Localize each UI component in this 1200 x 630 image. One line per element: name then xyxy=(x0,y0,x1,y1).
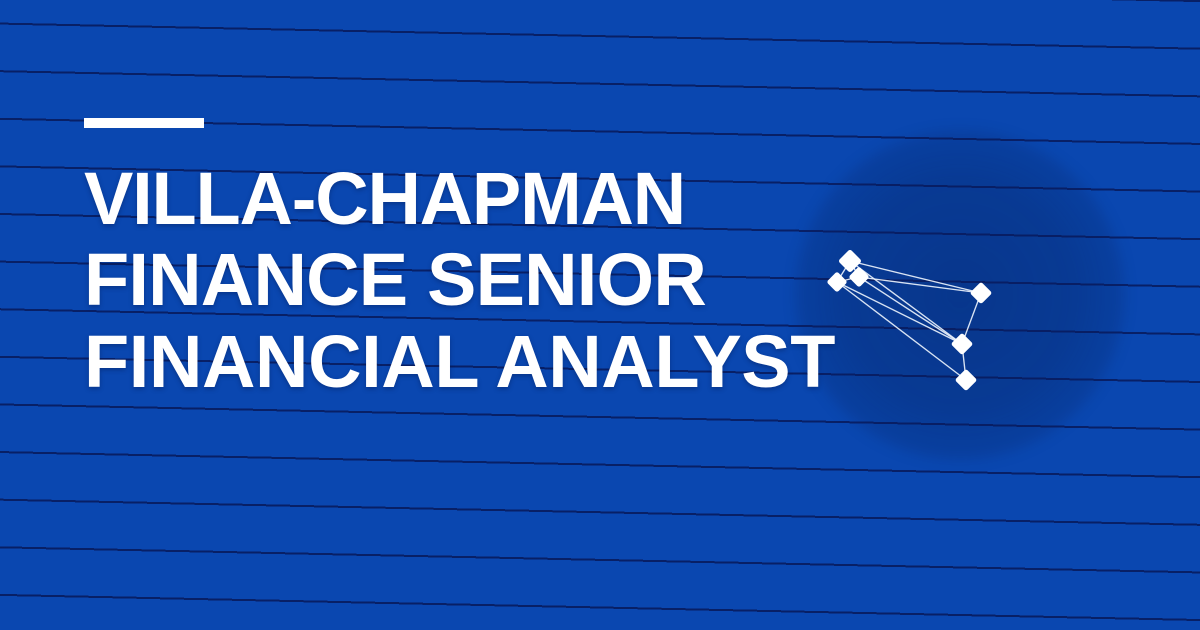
page-title-line-1: Villa-Chapman xyxy=(84,158,1044,239)
banner-card: Villa-Chapman Finance Senior Financial A… xyxy=(0,0,1200,630)
page-title: Villa-Chapman Finance Senior Financial A… xyxy=(84,158,1044,402)
accent-bar xyxy=(84,118,204,128)
banner-content: Villa-Chapman Finance Senior Financial A… xyxy=(84,118,1044,402)
page-title-line-3: Financial Analyst xyxy=(84,321,1044,402)
page-title-line-2: Finance Senior xyxy=(84,239,1044,320)
